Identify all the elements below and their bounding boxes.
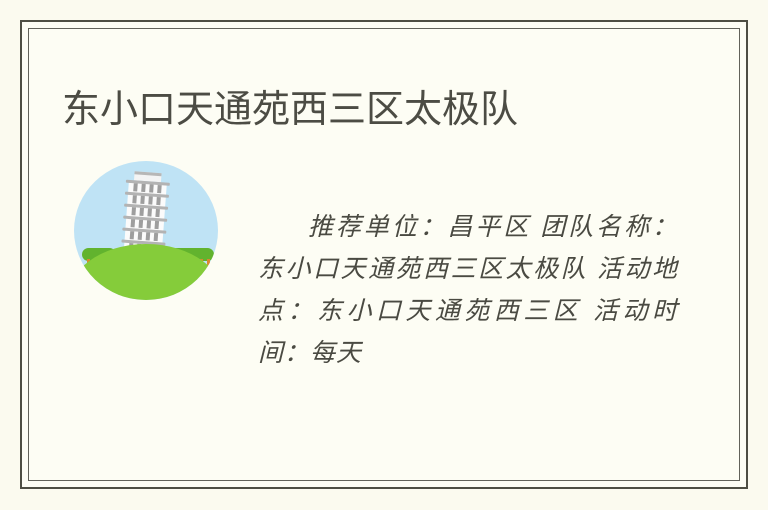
card-inner-frame: 东小口天通苑西三区太极队 bbox=[28, 28, 740, 481]
team-details-text: 推荐单位：昌平区 团队名称：东小口天通苑西三区太极队 活动地点：东小口天通苑西三… bbox=[258, 207, 678, 375]
content-area: 推荐单位：昌平区 团队名称：东小口天通苑西三区太极队 活动地点：东小口天通苑西三… bbox=[62, 154, 719, 470]
badge-circle bbox=[74, 161, 218, 300]
page-title: 东小口天通苑西三区太极队 bbox=[62, 87, 518, 133]
leaning-tower-of-pisa-icon bbox=[74, 161, 218, 300]
card-outer-frame: 东小口天通苑西三区太极队 bbox=[20, 20, 748, 489]
